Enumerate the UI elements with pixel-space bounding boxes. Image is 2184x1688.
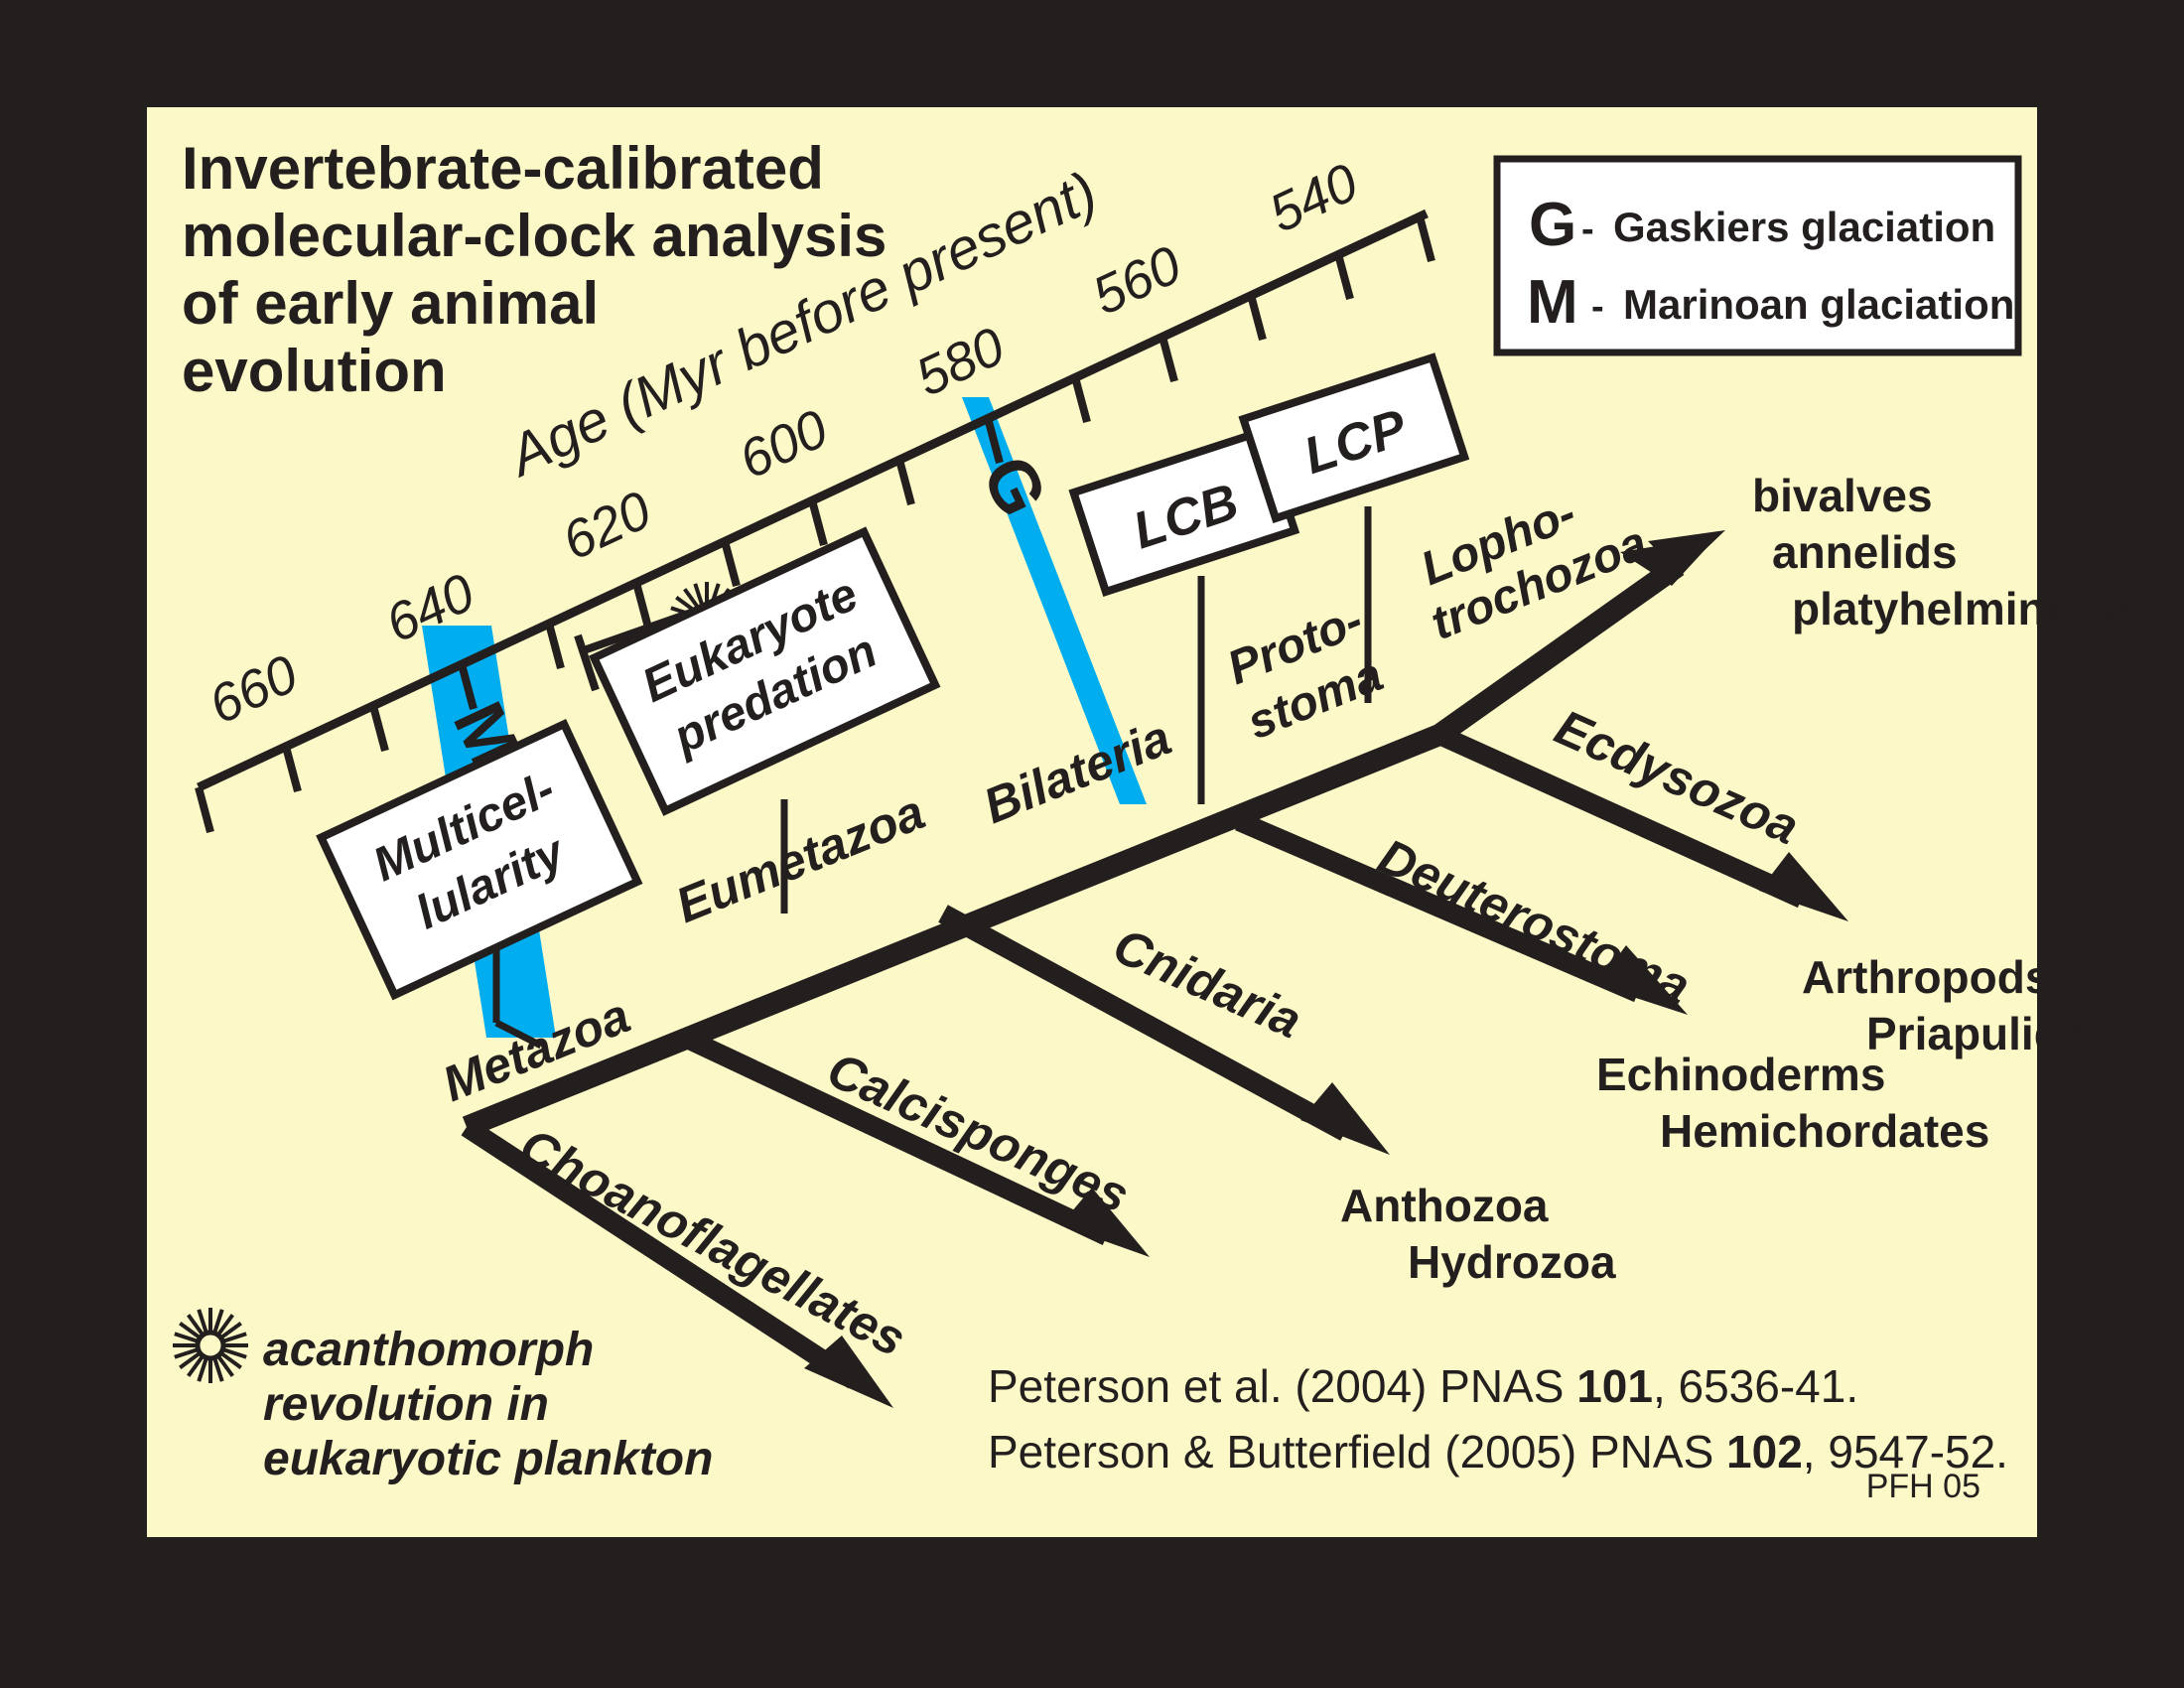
axis-tick-580: 580 [907, 316, 1014, 407]
axis-tick-600: 600 [731, 398, 837, 490]
terminal-taxa-deuterostoma: Echinoderms Hemichordates [1596, 1049, 1989, 1157]
terminal-taxa-lophotrochozoa: bivalves annelids platyhelminthes [1752, 470, 2139, 634]
terminal-taxa-ecdysozoa: Arthropods Priapulids [1802, 951, 2087, 1059]
taxon-hemichordates: Hemichordates [1660, 1105, 1989, 1157]
legend-dash-M: - [1591, 286, 1604, 328]
legend-box: G - Gaskiers glaciation M - Marinoan gla… [1497, 159, 2018, 352]
taxon-anthozoa: Anthozoa [1340, 1180, 1549, 1231]
taxon-annelids: annelids [1772, 526, 1958, 578]
citation-1-volume: 101 [1576, 1360, 1653, 1412]
clade-label-bilateria: Bilateria [976, 709, 1178, 834]
citation-1-pre: Peterson et al. (2004) PNAS [988, 1360, 1576, 1412]
legend-dash-G: - [1581, 209, 1594, 250]
taxon-echinoderms: Echinoderms [1596, 1049, 1885, 1100]
clade-label-deuterostoma: Deuterostoma [1371, 828, 1699, 1015]
event-box-multicellularity: Multicel- lularity [321, 724, 637, 995]
diagram-svg: 660 640 620 600 580 560 540 Age (Myr bef… [0, 0, 2184, 1688]
taxon-platyhelminthes: platyhelminthes [1792, 583, 2139, 634]
citations: Peterson et al. (2004) PNAS 101, 6536-41… [988, 1360, 2008, 1477]
svg-text:Peterson & Butterfield (2005): Peterson & Butterfield (2005) PNAS 102, … [988, 1426, 2008, 1477]
axis-tick-540: 540 [1261, 152, 1367, 243]
citation-1-post: , 6536-41. [1653, 1360, 1858, 1412]
terminal-taxa-cnidaria: Anthozoa Hydrozoa [1340, 1180, 1616, 1288]
taxon-bivalves: bivalves [1752, 470, 1933, 521]
arrowhead-cnidaria [1300, 1082, 1390, 1155]
starburst-icon [173, 1308, 248, 1383]
figure-root: 660 640 620 600 580 560 540 Age (Myr bef… [0, 0, 2184, 1688]
acanthomorph-note: acanthomorph revolution in eukaryotic pl… [173, 1308, 713, 1485]
axis-tick-560: 560 [1084, 234, 1190, 326]
acanthomorph-note-line-1: acanthomorph [263, 1324, 594, 1376]
axis-tick-660: 660 [201, 643, 307, 735]
citation-2-pre: Peterson & Butterfield (2005) PNAS [988, 1426, 1726, 1477]
title-line-1: Invertebrate-calibrated [182, 135, 824, 202]
legend-label-marinoan: Marinoan glaciation [1623, 281, 2014, 328]
taxon-arthropods: Arthropods [1802, 951, 2050, 1003]
title-line-3: of early animal [182, 270, 599, 337]
citation-2-volume: 102 [1726, 1426, 1803, 1477]
event-box-lcp: LCP [1244, 357, 1465, 518]
acanthomorph-note-line-2: revolution in [263, 1378, 549, 1431]
legend-symbol-G: G [1529, 191, 1576, 259]
glaciation-letter-G: G [967, 445, 1062, 529]
legend-symbol-M: M [1527, 268, 1578, 337]
credit-mark: PFH 05 [1866, 1468, 1980, 1505]
clade-label-eumetazoa: Eumetazoa [668, 783, 932, 933]
taxon-priapulids: Priapulids [1866, 1008, 2087, 1059]
arrowhead-ecdysozoa [1759, 852, 1848, 921]
legend-label-gaskiers: Gaskiers glaciation [1613, 204, 1995, 250]
axis-tick-620: 620 [554, 480, 660, 571]
svg-text:Peterson et al. (2004) PNAS 10: Peterson et al. (2004) PNAS 101, 6536-41… [988, 1360, 1858, 1412]
taxon-hydrozoa: Hydrozoa [1408, 1236, 1616, 1288]
title-line-2: molecular-clock analysis [182, 203, 887, 269]
title-line-4: evolution [182, 338, 447, 404]
acanthomorph-note-line-3: eukaryotic plankton [263, 1433, 713, 1485]
